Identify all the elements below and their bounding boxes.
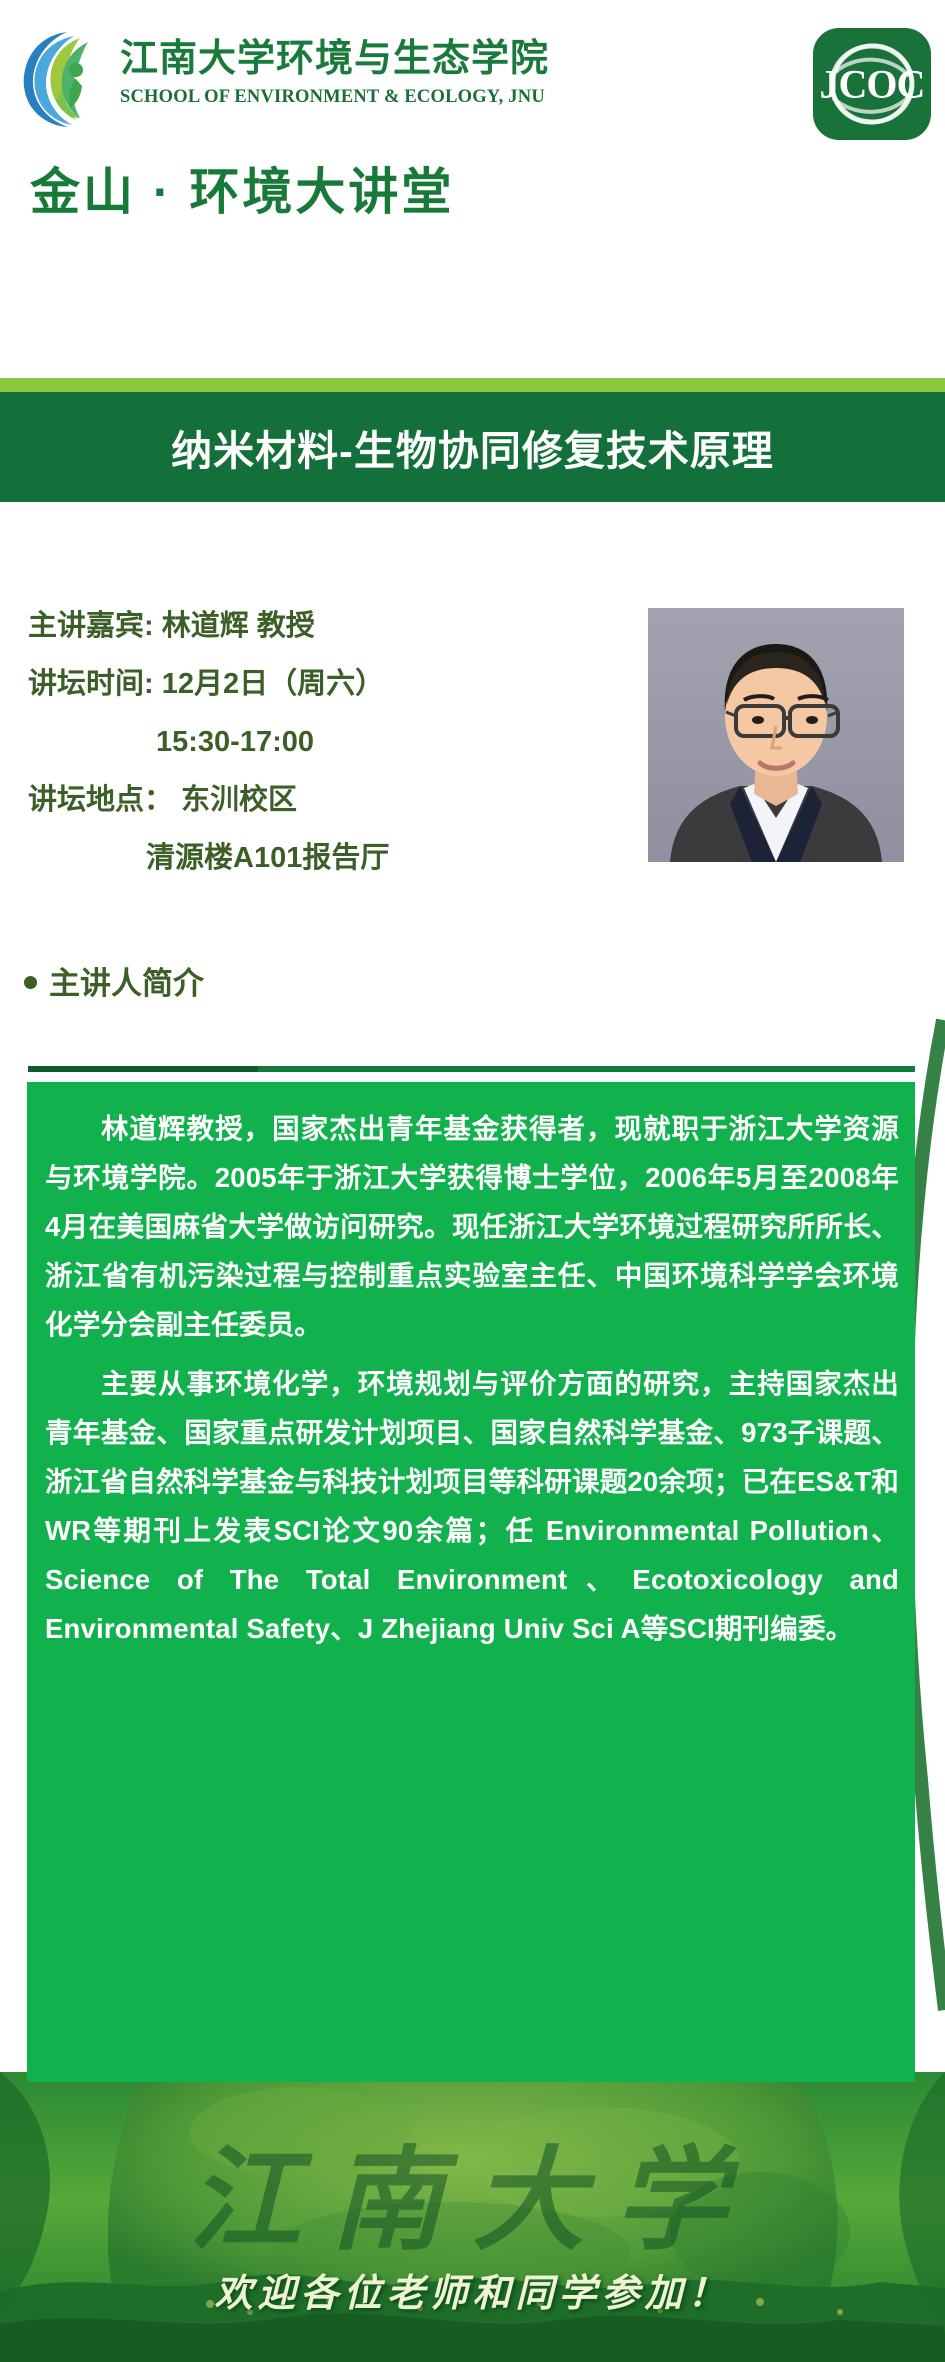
venue-row-2: 清源楼A101报告厅 [28, 844, 628, 873]
poster-root: 江南大学环境与生态学院 SCHOOL OF ENVIRONMENT & ECOL… [0, 0, 945, 2362]
lecture-title: 纳米材料-生物协同修复技术原理 [0, 417, 945, 477]
school-logo-icon [18, 28, 116, 130]
banner-accent-stripe [0, 378, 945, 392]
bio-heading-label: 主讲人简介 [49, 966, 204, 1001]
lecture-details: 主讲嘉宾: 林道辉 教授 讲坛时间: 12月2日（周六） 15:30-17:00… [28, 612, 628, 902]
time-row-2: 15:30-17:00 [28, 728, 628, 757]
stone-calligraphy: 江南大学 [0, 2110, 945, 2272]
school-name-block: 江南大学环境与生态学院 SCHOOL OF ENVIRONMENT & ECOL… [120, 40, 549, 108]
speaker-photo [648, 608, 904, 862]
jcoc-badge-label: JCOC [813, 61, 931, 108]
jcoc-badge: JCOC [813, 28, 931, 140]
bio-box: 林道辉教授，国家杰出青年基金获得者，现就职于浙江大学资源与环境学院。2005年于… [27, 1082, 915, 2082]
welcome-text: 欢迎各位老师和同学参加！ [0, 2262, 945, 2317]
lecture-title-banner: 纳米材料-生物协同修复技术原理 [0, 392, 945, 502]
speaker-row: 主讲嘉宾: 林道辉 教授 [28, 612, 628, 641]
bio-paragraph-1: 林道辉教授，国家杰出青年基金获得者，现就职于浙江大学资源与环境学院。2005年于… [45, 1104, 899, 1349]
time-row: 讲坛时间: 12月2日（周六） [28, 670, 628, 699]
bullet-icon [24, 976, 37, 989]
header: 江南大学环境与生态学院 SCHOOL OF ENVIRONMENT & ECOL… [0, 0, 945, 150]
bio-heading: 主讲人简介 [24, 958, 204, 1003]
section-divider-accent [28, 1066, 258, 1072]
school-name-en: SCHOOL OF ENVIRONMENT & ECOLOGY, JNU [120, 87, 549, 108]
school-name-cn: 江南大学环境与生态学院 [120, 40, 549, 78]
venue-row: 讲坛地点： 东汌校区 [28, 786, 628, 815]
bio-paragraph-2: 主要从事环境化学，环境规划与评价方面的研究，主持国家杰出青年基金、国家重点研发计… [45, 1359, 899, 1653]
series-title: 金山 · 环境大讲堂 [30, 165, 454, 220]
